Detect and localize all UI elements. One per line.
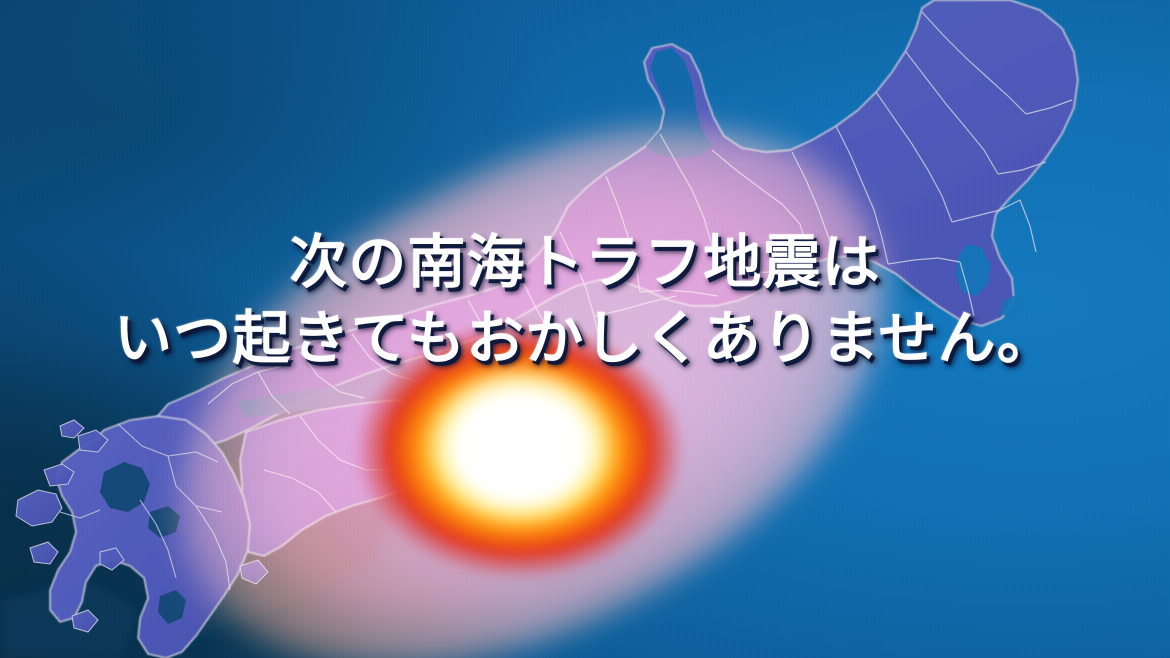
vignette (0, 0, 1170, 658)
broadcast-map-scene: 次の南海トラフ地震は いつ起きてもおかしくありません。 (0, 0, 1170, 658)
